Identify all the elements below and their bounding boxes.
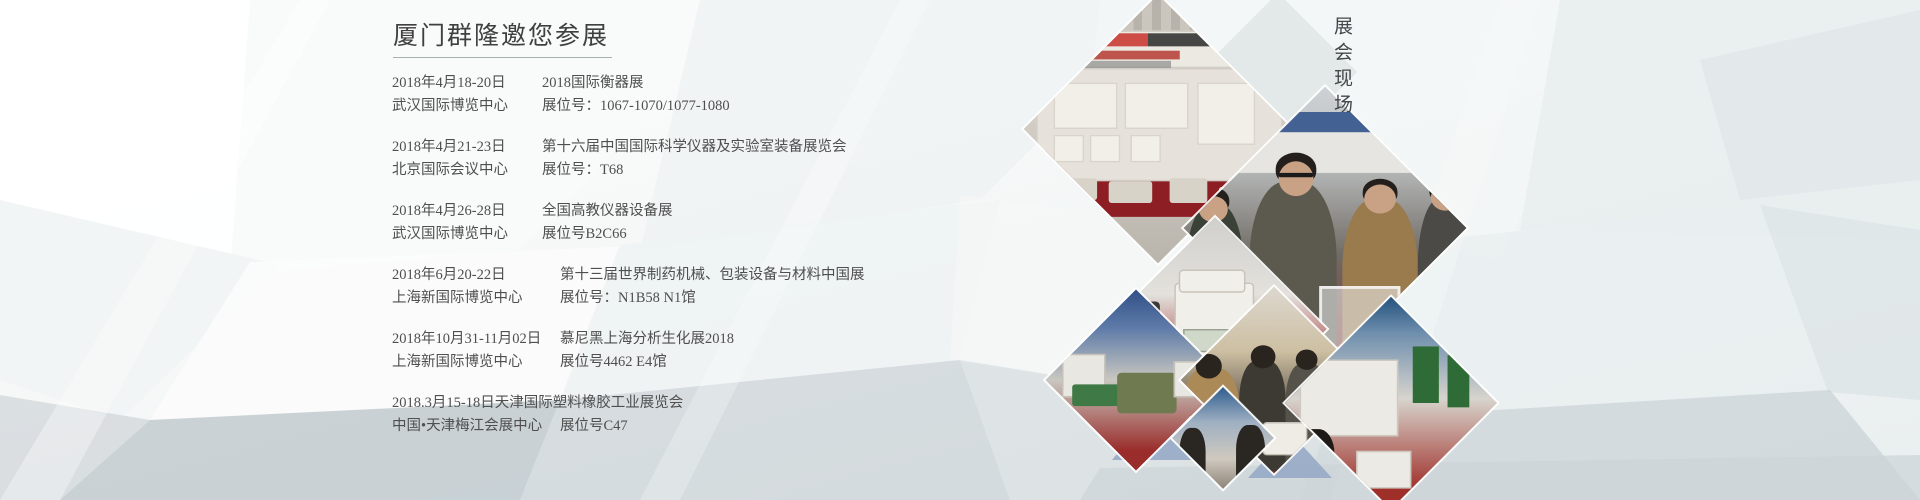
event-row-date: 2018年4月26-28日 全国高教仪器设备展: [392, 200, 952, 223]
event-info-panel: 厦门群隆邀您参展 2018年4月18-20日 2018国际衡器展 武汉国际博览中…: [392, 20, 952, 490]
event-booth: 展位号：1067-1070/1077-1080: [542, 95, 730, 118]
event-item-2: 2018年4月21-23日 第十六届中国国际科学仪器及实验室装备展览会 北京国际…: [392, 136, 952, 182]
exhibition-banner: 厦门群隆邀您参展 2018年4月18-20日 2018国际衡器展 武汉国际博览中…: [0, 0, 1920, 500]
event-name: 第十三届世界制药机械、包装设备与材料中国展: [560, 264, 865, 287]
event-date: 2018年10月31-11月02日: [392, 328, 560, 351]
vertical-section-label: 展会现场: [1329, 16, 1356, 120]
event-row-venue: 北京国际会议中心 展位号：T68: [392, 159, 952, 182]
event-date: 2018年4月18-20日: [392, 72, 542, 95]
event-venue: 北京国际会议中心: [392, 159, 542, 182]
event-venue: 上海新国际博览中心: [392, 287, 560, 310]
event-name: 慕尼黑上海分析生化展2018: [560, 328, 734, 351]
event-item-1: 2018年4月18-20日 2018国际衡器展 武汉国际博览中心 展位号：106…: [392, 72, 952, 118]
event-item-4: 2018年6月20-22日 第十三届世界制药机械、包装设备与材料中国展 上海新国…: [392, 264, 952, 310]
event-booth: 展位号4462 E4馆: [560, 351, 667, 374]
event-row-date: 2018年4月21-23日 第十六届中国国际科学仪器及实验室装备展览会: [392, 136, 952, 159]
photo-collage: 展会现场: [1020, 0, 1440, 500]
event-date: 2018.3月15-18日天津国际塑料橡胶工业展览会: [392, 392, 952, 415]
event-row-date: 2018年4月18-20日 2018国际衡器展: [392, 72, 952, 95]
title-divider: [393, 57, 612, 58]
event-venue: 武汉国际博览中心: [392, 95, 542, 118]
event-name: 第十六届中国国际科学仪器及实验室装备展览会: [542, 136, 847, 159]
event-name: 全国高教仪器设备展: [542, 200, 673, 223]
event-row-venue: 武汉国际博览中心 展位号：1067-1070/1077-1080: [392, 95, 952, 118]
event-item-5: 2018年10月31-11月02日 慕尼黑上海分析生化展2018 上海新国际博览…: [392, 328, 952, 374]
event-date: 2018年6月20-22日: [392, 264, 560, 287]
event-booth: 展位号：N1B58 N1馆: [560, 287, 696, 310]
page-title: 厦门群隆邀您参展: [392, 20, 952, 51]
event-row-date: 2018年6月20-22日 第十三届世界制药机械、包装设备与材料中国展: [392, 264, 952, 287]
event-booth: 展位号C47: [560, 415, 628, 438]
background-polygons: [0, 0, 1920, 500]
event-row-venue: 上海新国际博览中心 展位号：N1B58 N1馆: [392, 287, 952, 310]
event-booth: 展位号：T68: [542, 159, 623, 182]
event-item-6: 2018.3月15-18日天津国际塑料橡胶工业展览会 中国•天津梅江会展中心 展…: [392, 392, 952, 438]
event-item-3: 2018年4月26-28日 全国高教仪器设备展 武汉国际博览中心 展位号B2C6…: [392, 200, 952, 246]
event-booth: 展位号B2C66: [542, 223, 627, 246]
event-row-venue: 中国•天津梅江会展中心 展位号C47: [392, 415, 952, 438]
event-venue: 上海新国际博览中心: [392, 351, 560, 374]
event-row-venue: 武汉国际博览中心 展位号B2C66: [392, 223, 952, 246]
event-venue: 中国•天津梅江会展中心: [392, 415, 560, 438]
event-date: 2018年4月21-23日: [392, 136, 542, 159]
event-date: 2018年4月26-28日: [392, 200, 542, 223]
event-name: 2018国际衡器展: [542, 72, 644, 95]
event-venue: 武汉国际博览中心: [392, 223, 542, 246]
event-row-venue: 上海新国际博览中心 展位号4462 E4馆: [392, 351, 952, 374]
event-row-date: 2018年10月31-11月02日 慕尼黑上海分析生化展2018: [392, 328, 952, 351]
